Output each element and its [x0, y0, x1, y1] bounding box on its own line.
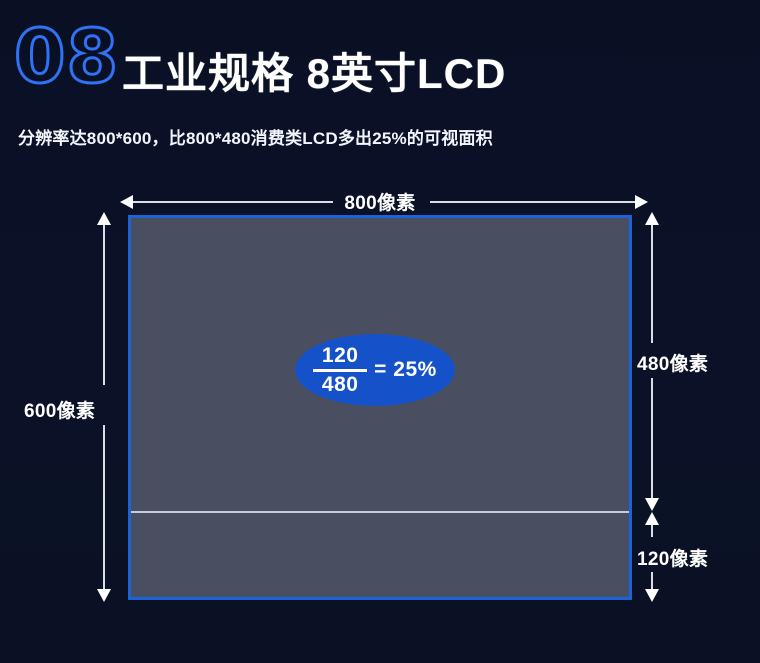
- right-lower-dimension-arrow-down: [645, 589, 659, 602]
- right-lower-dimension-label: 120像素: [637, 544, 708, 571]
- lcd-panel-divider: [131, 511, 629, 513]
- left-dimension-label: 600像素: [24, 396, 95, 423]
- fraction: 120 480: [313, 345, 367, 395]
- right-upper-dimension-arrow-down: [645, 498, 659, 511]
- right-upper-dimension-arrow-up: [645, 212, 659, 225]
- page-subtitle: 分辨率达800*600，比800*480消费类LCD多出25%的可视面积: [18, 124, 493, 149]
- page-title: 工业规格 8英寸LCD: [122, 40, 506, 101]
- lcd-panel: [128, 215, 632, 600]
- left-dimension-line-lower: [103, 425, 105, 589]
- fraction-bar: [313, 369, 367, 372]
- slide-number: 08: [14, 20, 119, 94]
- left-dimension-arrow-up: [97, 212, 111, 225]
- slide-canvas: 08 工业规格 8英寸LCD 分辨率达800*600，比800*480消费类LC…: [0, 0, 760, 663]
- top-dimension-label: 800像素: [0, 188, 760, 215]
- left-dimension-arrow-down: [97, 589, 111, 602]
- right-upper-dimension-label: 480像素: [637, 349, 708, 376]
- right-lower-dimension-line-a: [651, 525, 653, 537]
- fraction-numerator: 120: [322, 345, 359, 366]
- right-upper-dimension-line-b: [651, 378, 653, 498]
- right-lower-dimension-line-b: [651, 572, 653, 589]
- fraction-denominator: 480: [322, 374, 359, 395]
- right-lower-dimension-arrow-up: [645, 512, 659, 525]
- percentage-callout: 120 480 = 25%: [295, 334, 455, 406]
- right-upper-dimension-line-a: [651, 225, 653, 343]
- fraction-result: = 25%: [374, 358, 437, 383]
- left-dimension-line-upper: [103, 225, 105, 385]
